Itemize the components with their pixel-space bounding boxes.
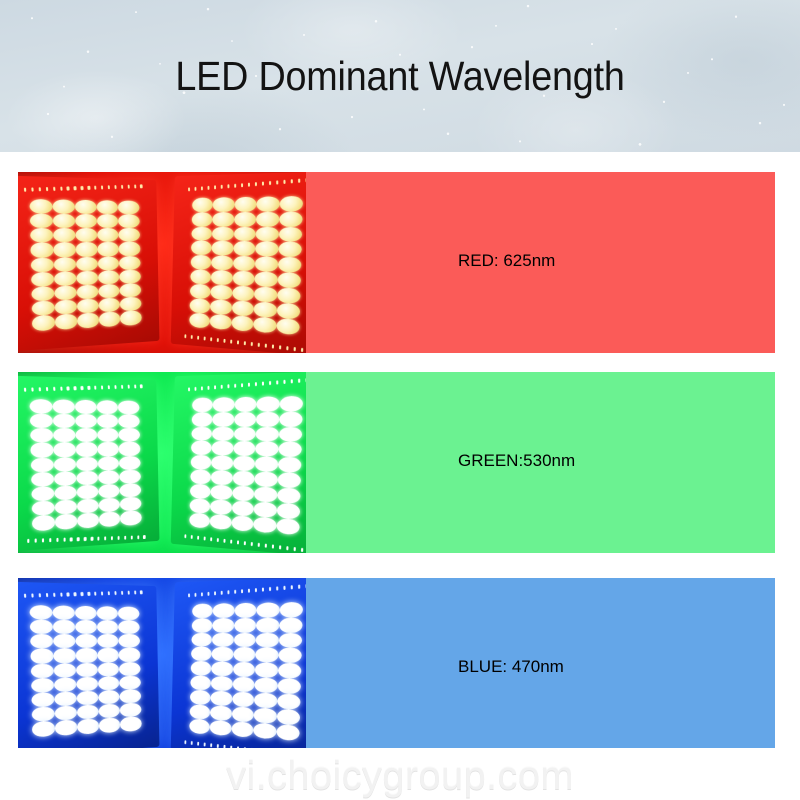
- led-fixture-left-green: [18, 376, 159, 552]
- led-lens-grid: [29, 605, 141, 737]
- wavelength-row-blue: BLUE: 470nm: [18, 578, 775, 759]
- led-scene-green: [18, 372, 306, 553]
- led-strip-bottom-icon: [27, 535, 145, 543]
- wavelength-label-blue: BLUE: 470nm: [458, 657, 564, 677]
- led-strip-top-icon: [188, 584, 306, 597]
- led-scene-blue: [18, 578, 306, 759]
- led-lens-grid: [189, 602, 303, 741]
- led-strip-top-icon: [24, 185, 143, 193]
- led-scene-red: [18, 172, 306, 353]
- color-swatch-red: RED: 625nm: [306, 172, 775, 353]
- led-lens-grid: [29, 399, 141, 531]
- color-swatch-blue: BLUE: 470nm: [306, 578, 775, 759]
- wavelength-label-red: RED: 625nm: [458, 251, 555, 271]
- led-lens-grid: [189, 196, 303, 335]
- led-fixture-right-green: [171, 372, 306, 553]
- site-watermark: vi.choicygroup.com: [0, 754, 800, 799]
- page-title: LED Dominant Wavelength: [32, 0, 768, 152]
- led-strip-top-icon: [188, 378, 306, 391]
- led-strip-top-icon: [24, 385, 143, 393]
- led-fixture-right-blue: [171, 578, 306, 759]
- led-lens-grid: [29, 199, 141, 331]
- led-photo-blue: [18, 578, 306, 759]
- wavelength-row-green: GREEN:530nm: [18, 372, 775, 553]
- footer-watermark-area: vi.choicygroup.com: [0, 748, 800, 800]
- led-lens-grid: [189, 396, 303, 535]
- led-fixture-right-red: [171, 172, 306, 353]
- led-strip-top-icon: [188, 178, 306, 191]
- led-photo-red: [18, 172, 306, 353]
- led-fixture-left-red: [18, 176, 159, 352]
- header-banner: LED Dominant Wavelength: [0, 0, 800, 152]
- led-fixture-left-blue: [18, 582, 159, 758]
- led-photo-green: [18, 372, 306, 553]
- wavelength-label-green: GREEN:530nm: [458, 451, 575, 471]
- led-strip-top-icon: [24, 591, 143, 599]
- color-swatch-green: GREEN:530nm: [306, 372, 775, 553]
- wavelength-row-red: RED: 625nm: [18, 172, 775, 353]
